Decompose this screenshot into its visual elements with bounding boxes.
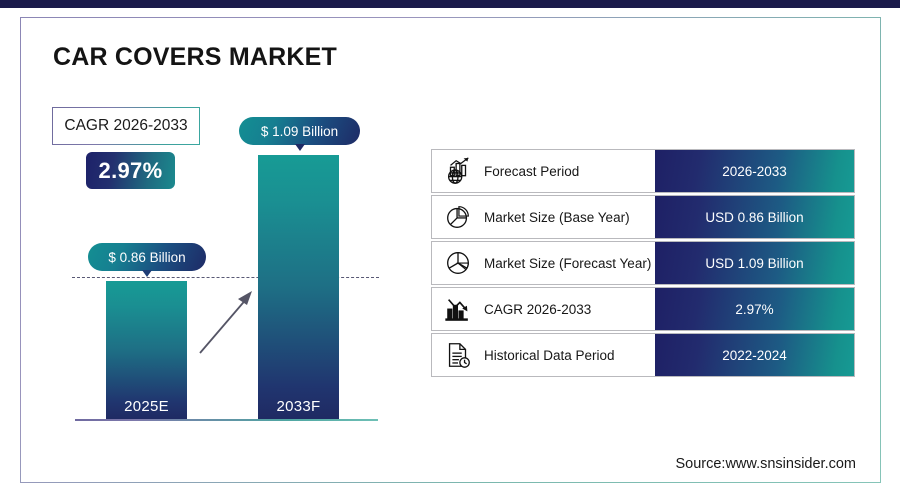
bar-label-2033f: 2033F	[258, 398, 339, 415]
source-attribution: Source:www.snsinsider.com	[675, 456, 856, 472]
bar-label-2025e: 2025E	[106, 398, 187, 415]
table-row: Market Size (Base Year) USD 0.86 Billion	[431, 195, 855, 239]
infographic-root: CAR COVERS MARKET CAGR 2026-2033 2.97% 2…	[0, 0, 900, 500]
globe-growth-chart-icon	[432, 150, 484, 192]
table-row: CAGR 2026-2033 2.97%	[431, 287, 855, 331]
bar-chart-trend-icon	[432, 288, 484, 330]
chart-baseline-axis	[75, 419, 378, 421]
table-row-value: USD 1.09 Billion	[655, 242, 854, 284]
table-row: Historical Data Period 2022-2024	[431, 333, 855, 377]
table-row: Forecast Period 2026-2033	[431, 149, 855, 193]
table-row-value: 2.97%	[655, 288, 854, 330]
table-row-label: CAGR 2026-2033	[484, 288, 655, 330]
growth-arrow-icon	[196, 285, 258, 357]
table-row-label: Market Size (Base Year)	[484, 196, 655, 238]
table-row-value: 2022-2024	[655, 334, 854, 376]
table-row-label: Forecast Period	[484, 150, 655, 192]
table-row-value: 2026-2033	[655, 150, 854, 192]
value-pill-2025e: $ 0.86 Billion	[88, 243, 206, 271]
table-row-label: Historical Data Period	[484, 334, 655, 376]
table-row-value: USD 0.86 Billion	[655, 196, 854, 238]
value-pill-2033f-text: $ 1.09 Billion	[261, 124, 338, 139]
bar-chart: 2025E 2033F $ 0.86 Billion $ 1.09 Billio…	[0, 0, 420, 500]
table-row-label: Market Size (Forecast Year)	[484, 242, 655, 284]
value-pill-2033f: $ 1.09 Billion	[239, 117, 360, 145]
bar-2033f	[258, 155, 339, 419]
value-pill-2025e-text: $ 0.86 Billion	[108, 250, 185, 265]
market-summary-table: Forecast Period 2026-2033 Market Size (B…	[431, 149, 855, 379]
table-row: Market Size (Forecast Year) USD 1.09 Bil…	[431, 241, 855, 285]
pie-chart-exploded-icon	[432, 196, 484, 238]
pie-chart-segments-icon	[432, 242, 484, 284]
document-clock-icon	[432, 334, 484, 376]
